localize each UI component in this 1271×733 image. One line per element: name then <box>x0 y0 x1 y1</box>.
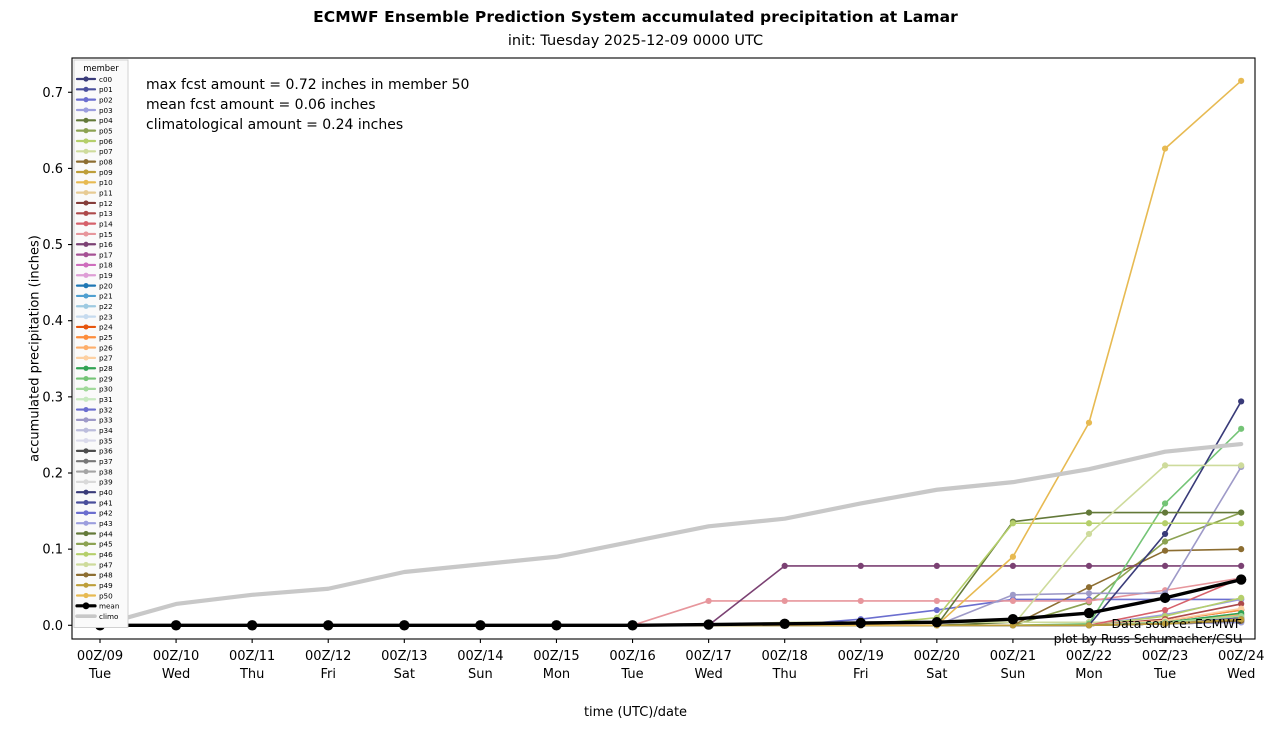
series-p50 <box>97 78 1244 629</box>
x-tick-label: 00Z/10 <box>153 649 199 664</box>
legend-label: p36 <box>99 447 113 456</box>
x-tick-sublabel: Mon <box>543 667 570 682</box>
credit-author: plot by Russ Schumacher/CSU <box>1054 631 1242 646</box>
legend-label: p33 <box>99 416 113 425</box>
legend-label: p26 <box>99 343 113 352</box>
legend-label: p17 <box>99 250 113 259</box>
x-tick-sublabel: Tue <box>620 667 643 682</box>
y-tick-label: 0.0 <box>42 619 63 634</box>
x-tick-sublabel: Mon <box>1075 667 1102 682</box>
legend-label: p43 <box>99 519 113 528</box>
y-tick-label: 0.7 <box>42 86 63 101</box>
x-tick-label: 00Z/22 <box>1066 649 1112 664</box>
y-tick-label: 0.6 <box>42 162 63 177</box>
x-tick-label: 00Z/09 <box>77 649 123 664</box>
legend-label: p16 <box>99 240 113 249</box>
x-tick-label: 00Z/14 <box>457 649 503 664</box>
legend-label: p15 <box>99 230 113 239</box>
legend-label: p21 <box>99 292 113 301</box>
x-tick-label: 00Z/17 <box>685 649 731 664</box>
legend-label: p38 <box>99 467 113 476</box>
credit-source: Data source: ECMWF <box>1112 616 1242 631</box>
legend-label: p09 <box>99 168 113 177</box>
x-tick-sublabel: Thu <box>771 667 796 682</box>
legend-label: p25 <box>99 333 113 342</box>
legend-label: p13 <box>99 209 113 218</box>
series-p33 <box>97 464 1244 629</box>
legend-label: climo <box>99 612 118 621</box>
legend-label: p31 <box>99 395 113 404</box>
legend-label: p45 <box>99 540 113 549</box>
legend-label: p18 <box>99 261 113 270</box>
legend-label: p22 <box>99 302 113 311</box>
x-tick-label: 00Z/20 <box>914 649 960 664</box>
x-tick-label: 00Z/11 <box>229 649 275 664</box>
legend-label: p19 <box>99 271 113 280</box>
legend-label: p24 <box>99 323 113 332</box>
legend-label: p08 <box>99 157 113 166</box>
legend-label: p50 <box>99 591 113 600</box>
legend-label: p05 <box>99 126 113 135</box>
legend-label: p01 <box>99 85 113 94</box>
x-tick-sublabel: Wed <box>1227 667 1255 682</box>
legend-label: p46 <box>99 550 113 559</box>
legend-label: p39 <box>99 478 113 487</box>
x-tick-label: 00Z/13 <box>381 649 427 664</box>
x-tick-sublabel: Wed <box>162 667 190 682</box>
x-tick-sublabel: Sat <box>926 667 947 682</box>
legend-label: mean <box>99 602 119 611</box>
series-p46 <box>97 520 1244 628</box>
legend-title: member <box>83 63 119 73</box>
legend-label: p47 <box>99 560 113 569</box>
x-tick-label: 00Z/21 <box>990 649 1036 664</box>
y-tick-label: 0.1 <box>42 543 63 558</box>
legend-label: p30 <box>99 385 113 394</box>
chart-figure: ECMWF Ensemble Prediction System accumul… <box>0 0 1271 733</box>
x-tick-sublabel: Sun <box>468 667 493 682</box>
y-tick-label: 0.2 <box>42 467 63 482</box>
series-p44 <box>97 509 1244 628</box>
x-tick-label: 00Z/23 <box>1142 649 1188 664</box>
legend-label: p37 <box>99 457 113 466</box>
legend-label: p23 <box>99 312 113 321</box>
legend-label: p28 <box>99 364 113 373</box>
annotation-group: max fcst amount = 0.72 inches in member … <box>146 77 469 133</box>
legend-label: p03 <box>99 106 113 115</box>
annotation-max: max fcst amount = 0.72 inches in member … <box>146 77 469 93</box>
plot-svg: 0.00.10.20.30.40.50.60.7 00Z/09Tue00Z/10… <box>0 0 1271 733</box>
x-tick-label: 00Z/24 <box>1218 649 1264 664</box>
x-tick-sublabel: Thu <box>239 667 264 682</box>
legend-label: p07 <box>99 147 113 156</box>
x-tick-label: 00Z/18 <box>762 649 808 664</box>
legend-label: c00 <box>99 75 113 84</box>
credit-group: Data source: ECMWF plot by Russ Schumach… <box>1054 616 1242 646</box>
legend-label: p11 <box>99 188 113 197</box>
x-tick-sublabel: Tue <box>1153 667 1176 682</box>
legend-label: p49 <box>99 581 113 590</box>
legend-label: p10 <box>99 178 113 187</box>
legend-label: p02 <box>99 95 113 104</box>
annotation-climo: climatological amount = 0.24 inches <box>146 117 403 133</box>
x-tick-sublabel: Sun <box>1001 667 1026 682</box>
legend-label: p44 <box>99 529 113 538</box>
legend-label: p14 <box>99 219 113 228</box>
legend[interactable]: memberc00p01p02p03p04p05p06p07p08p09p10p… <box>74 60 128 627</box>
series-p47 <box>97 462 1244 628</box>
series-p15 <box>97 575 1244 628</box>
x-tick-sublabel: Fri <box>320 667 336 682</box>
x-tick-label: 00Z/19 <box>838 649 884 664</box>
legend-label: p20 <box>99 281 113 290</box>
annotation-mean: mean fcst amount = 0.06 inches <box>146 97 376 113</box>
x-tick-label: 00Z/12 <box>305 649 351 664</box>
series-p05 <box>97 509 1244 628</box>
legend-label: p35 <box>99 436 113 445</box>
x-tick-sublabel: Sat <box>394 667 415 682</box>
x-tick-sublabel: Fri <box>853 667 869 682</box>
legend-label: p27 <box>99 354 113 363</box>
legend-label: p29 <box>99 374 113 383</box>
y-tick-group: 0.00.10.20.30.40.50.60.7 <box>42 86 72 634</box>
legend-label: p42 <box>99 509 113 518</box>
x-tick-sublabel: Wed <box>694 667 722 682</box>
axes-frame <box>72 58 1255 639</box>
legend-label: p06 <box>99 137 113 146</box>
legend-label: p34 <box>99 426 113 435</box>
x-tick-label: 00Z/15 <box>533 649 579 664</box>
y-tick-label: 0.5 <box>42 238 63 253</box>
x-tick-label: 00Z/16 <box>609 649 655 664</box>
legend-label: p32 <box>99 405 113 414</box>
legend-label: p12 <box>99 199 113 208</box>
legend-label: p41 <box>99 498 113 507</box>
series-climo <box>100 444 1241 625</box>
series-p29 <box>97 426 1244 629</box>
y-tick-label: 0.3 <box>42 390 63 405</box>
x-tick-sublabel: Tue <box>88 667 111 682</box>
y-tick-label: 0.4 <box>42 314 63 329</box>
legend-label: p40 <box>99 488 113 497</box>
legend-label: p48 <box>99 571 113 580</box>
series-group <box>95 78 1247 631</box>
legend-label: p04 <box>99 116 113 125</box>
